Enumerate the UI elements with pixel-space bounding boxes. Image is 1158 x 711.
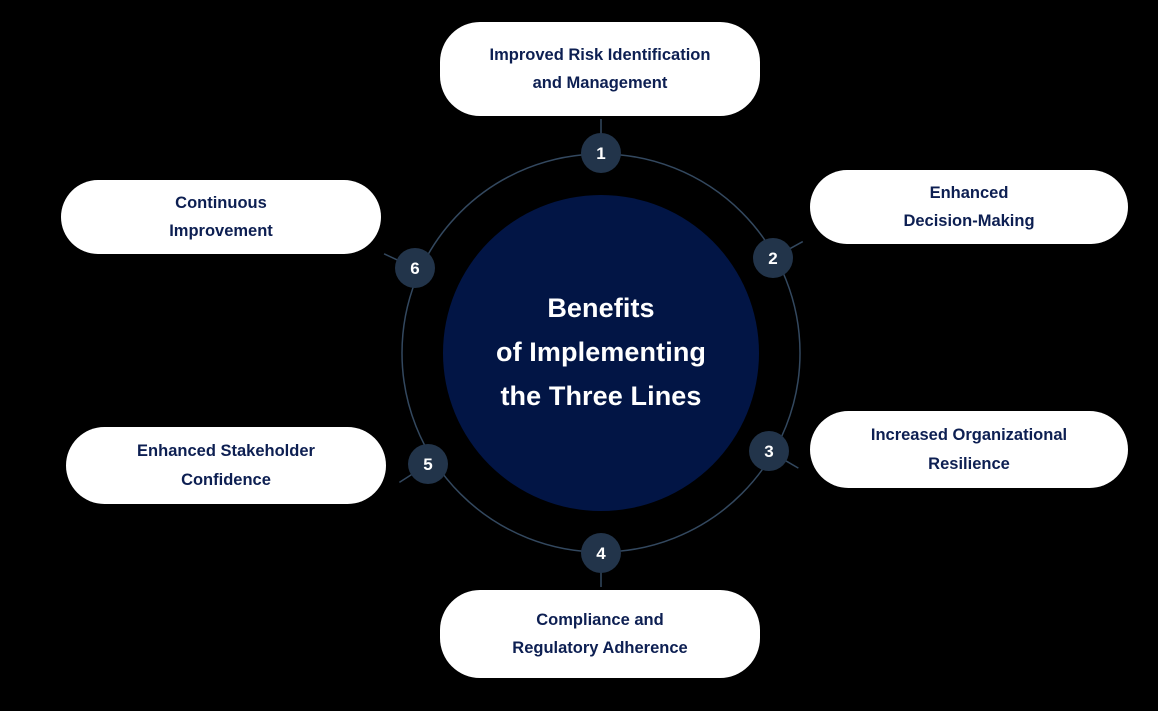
benefit-pill-3[interactable]: Increased OrganizationalResilience (810, 411, 1128, 488)
step-badge-number: 3 (764, 443, 773, 460)
benefit-pill-6[interactable]: ContinuousImprovement (61, 180, 381, 254)
benefit-pill-label-line: Resilience (871, 450, 1067, 478)
benefit-pill-2[interactable]: EnhancedDecision-Making (810, 170, 1128, 244)
hub-title: Benefitsof Implementingthe Three Lines (496, 287, 706, 418)
diagram-canvas: Benefitsof Implementingthe Three Lines I… (0, 0, 1158, 711)
benefit-pill-label-line: Enhanced Stakeholder (137, 437, 315, 465)
hub-title-line: the Three Lines (496, 375, 706, 419)
benefit-pill-4[interactable]: Compliance andRegulatory Adherence (440, 590, 760, 678)
step-badge-3[interactable]: 3 (749, 431, 789, 471)
benefit-pill-label-line: Confidence (137, 466, 315, 494)
benefit-pill-label: EnhancedDecision-Making (903, 179, 1034, 236)
step-badge-6[interactable]: 6 (395, 248, 435, 288)
benefit-pill-label-line: Continuous (169, 189, 273, 217)
benefit-pill-label-line: Improved Risk Identification (490, 41, 711, 69)
step-badge-4[interactable]: 4 (581, 533, 621, 573)
benefit-pill-label-line: and Management (490, 69, 711, 97)
step-badge-number: 2 (768, 250, 777, 267)
step-badge-number: 5 (423, 456, 432, 473)
benefit-pill-label-line: Increased Organizational (871, 421, 1067, 449)
step-badge-5[interactable]: 5 (408, 444, 448, 484)
benefit-pill-label: ContinuousImprovement (169, 189, 273, 246)
step-badge-1[interactable]: 1 (581, 133, 621, 173)
benefit-pill-label: Increased OrganizationalResilience (871, 421, 1067, 478)
step-badge-number: 4 (596, 545, 605, 562)
benefit-pill-label: Enhanced StakeholderConfidence (137, 437, 315, 494)
benefit-pill-label-line: Compliance and (512, 606, 687, 634)
benefit-pill-1[interactable]: Improved Risk Identificationand Manageme… (440, 22, 760, 116)
spoke-connector-3 (785, 460, 799, 468)
benefit-pill-label: Improved Risk Identificationand Manageme… (490, 41, 711, 98)
step-badge-number: 1 (596, 145, 605, 162)
benefit-pill-label: Compliance andRegulatory Adherence (512, 606, 687, 663)
hub-title-line: of Implementing (496, 331, 706, 375)
benefit-pill-label-line: Regulatory Adherence (512, 634, 687, 662)
step-badge-2[interactable]: 2 (753, 238, 793, 278)
benefit-pill-5[interactable]: Enhanced StakeholderConfidence (66, 427, 386, 504)
benefit-pill-label-line: Enhanced (903, 179, 1034, 207)
step-badge-number: 6 (410, 260, 419, 277)
benefit-pill-label-line: Improvement (169, 217, 273, 245)
benefit-pill-label-line: Decision-Making (903, 207, 1034, 235)
hub-title-line: Benefits (496, 287, 706, 331)
hub-circle: Benefitsof Implementingthe Three Lines (443, 195, 759, 511)
